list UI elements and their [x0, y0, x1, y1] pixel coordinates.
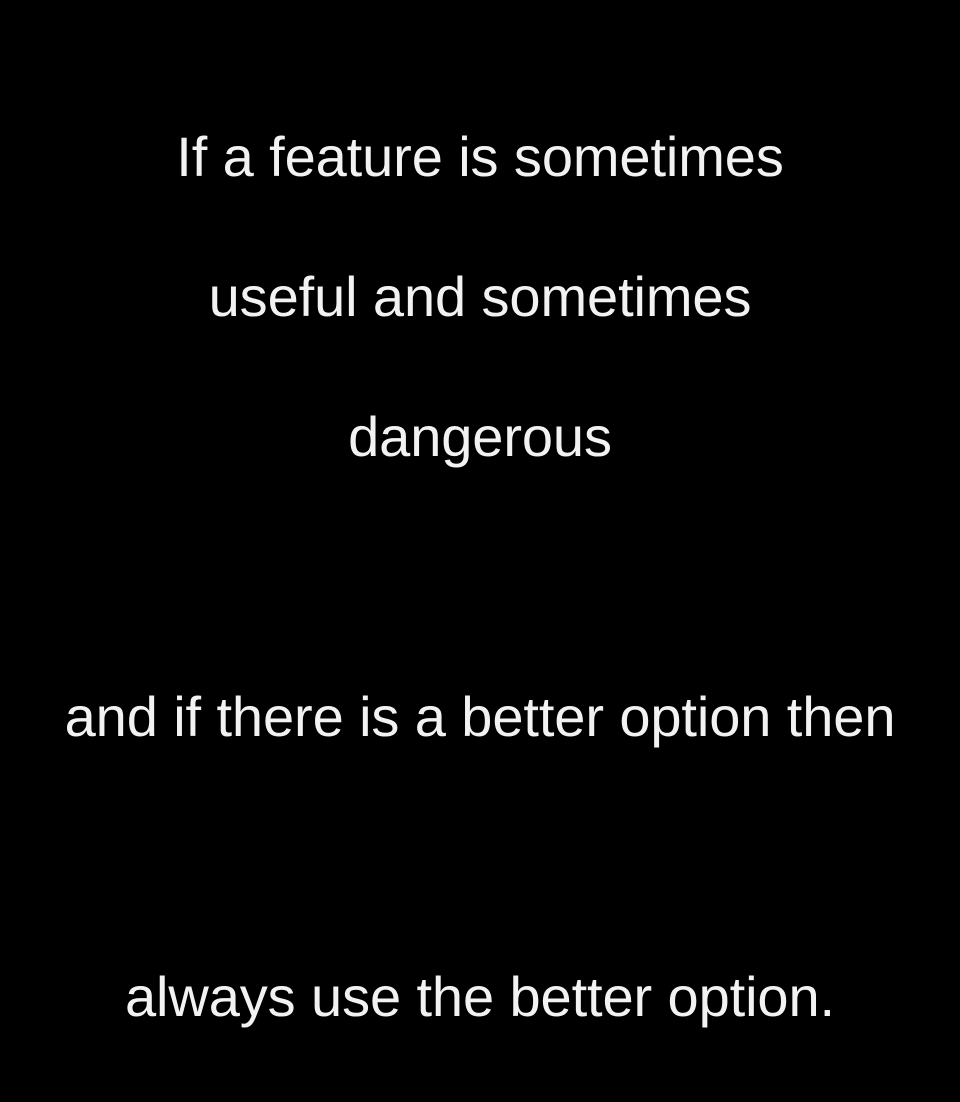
- caption-block-condition: If a feature is sometimes useful and som…: [0, 52, 960, 542]
- caption-block-conclusion: always use the better option.: [0, 892, 960, 1102]
- caption-line: If a feature is sometimes: [0, 122, 960, 192]
- caption-line: always use the better option.: [0, 962, 960, 1032]
- caption-line: useful and sometimes: [0, 262, 960, 332]
- caption-line: and if there is a better option then: [0, 682, 960, 752]
- slide-canvas: If a feature is sometimes useful and som…: [0, 0, 960, 720]
- caption-line: dangerous: [0, 402, 960, 472]
- caption-stack: If a feature is sometimes useful and som…: [0, 0, 960, 1102]
- caption-block-alternative: and if there is a better option then: [0, 612, 960, 822]
